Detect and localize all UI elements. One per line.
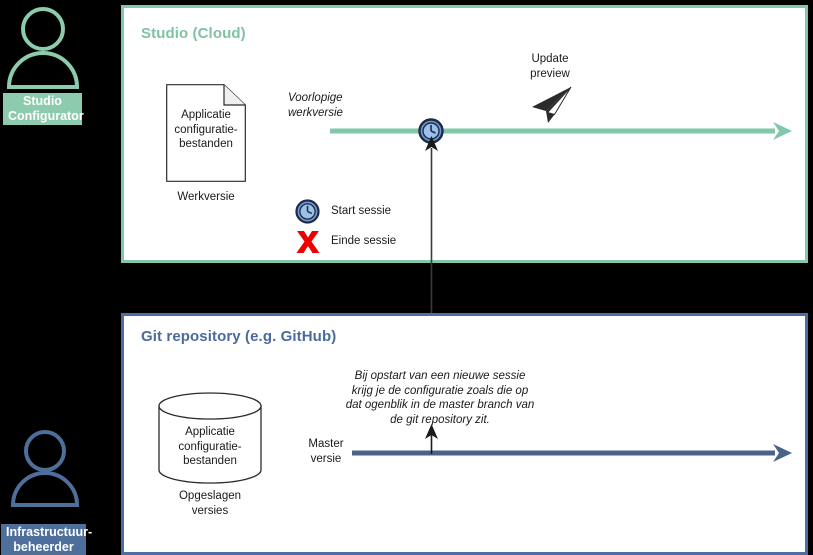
timeline-master xyxy=(352,441,800,465)
update-preview-label: Update preview xyxy=(500,52,600,81)
actor-infrastructuur-beheerder-label: Infrastructuur- beheerder xyxy=(1,524,86,555)
legend-start-sessie-label: Start sessie xyxy=(331,204,391,218)
database-text: Applicatie configuratie- bestanden xyxy=(160,425,260,469)
legend-clock-icon xyxy=(295,199,320,224)
person-icon xyxy=(8,428,82,508)
lane-git-title: Git repository (e.g. GitHub) xyxy=(141,328,336,345)
timeline-master-label: Master versie xyxy=(298,437,354,466)
person-icon xyxy=(4,5,82,90)
actor-studio-configurator xyxy=(4,5,82,90)
actor-studio-configurator-label: Studio Configurator xyxy=(3,93,82,125)
database-caption: Opgeslagen versies xyxy=(150,489,270,518)
diagram-canvas: Studio (Cloud) Studio Configurator Appli… xyxy=(0,0,813,555)
legend-einde-sessie-label: Einde sessie xyxy=(331,234,396,248)
document-werkversie-caption: Werkversie xyxy=(146,190,266,205)
timeline-studio-label: Voorlopige werkversie xyxy=(288,91,398,120)
lane-studio-title: Studio (Cloud) xyxy=(141,25,246,42)
send-plane-icon[interactable] xyxy=(529,85,573,125)
connector-master-up xyxy=(423,424,440,456)
red-cross-icon xyxy=(293,228,323,258)
actor-infrastructuur-beheerder xyxy=(8,428,82,508)
git-annotation: Bij opstart van een nieuwe sessie krijg … xyxy=(330,369,550,427)
document-werkversie-text: Applicatie configuratie- bestanden xyxy=(166,108,246,152)
